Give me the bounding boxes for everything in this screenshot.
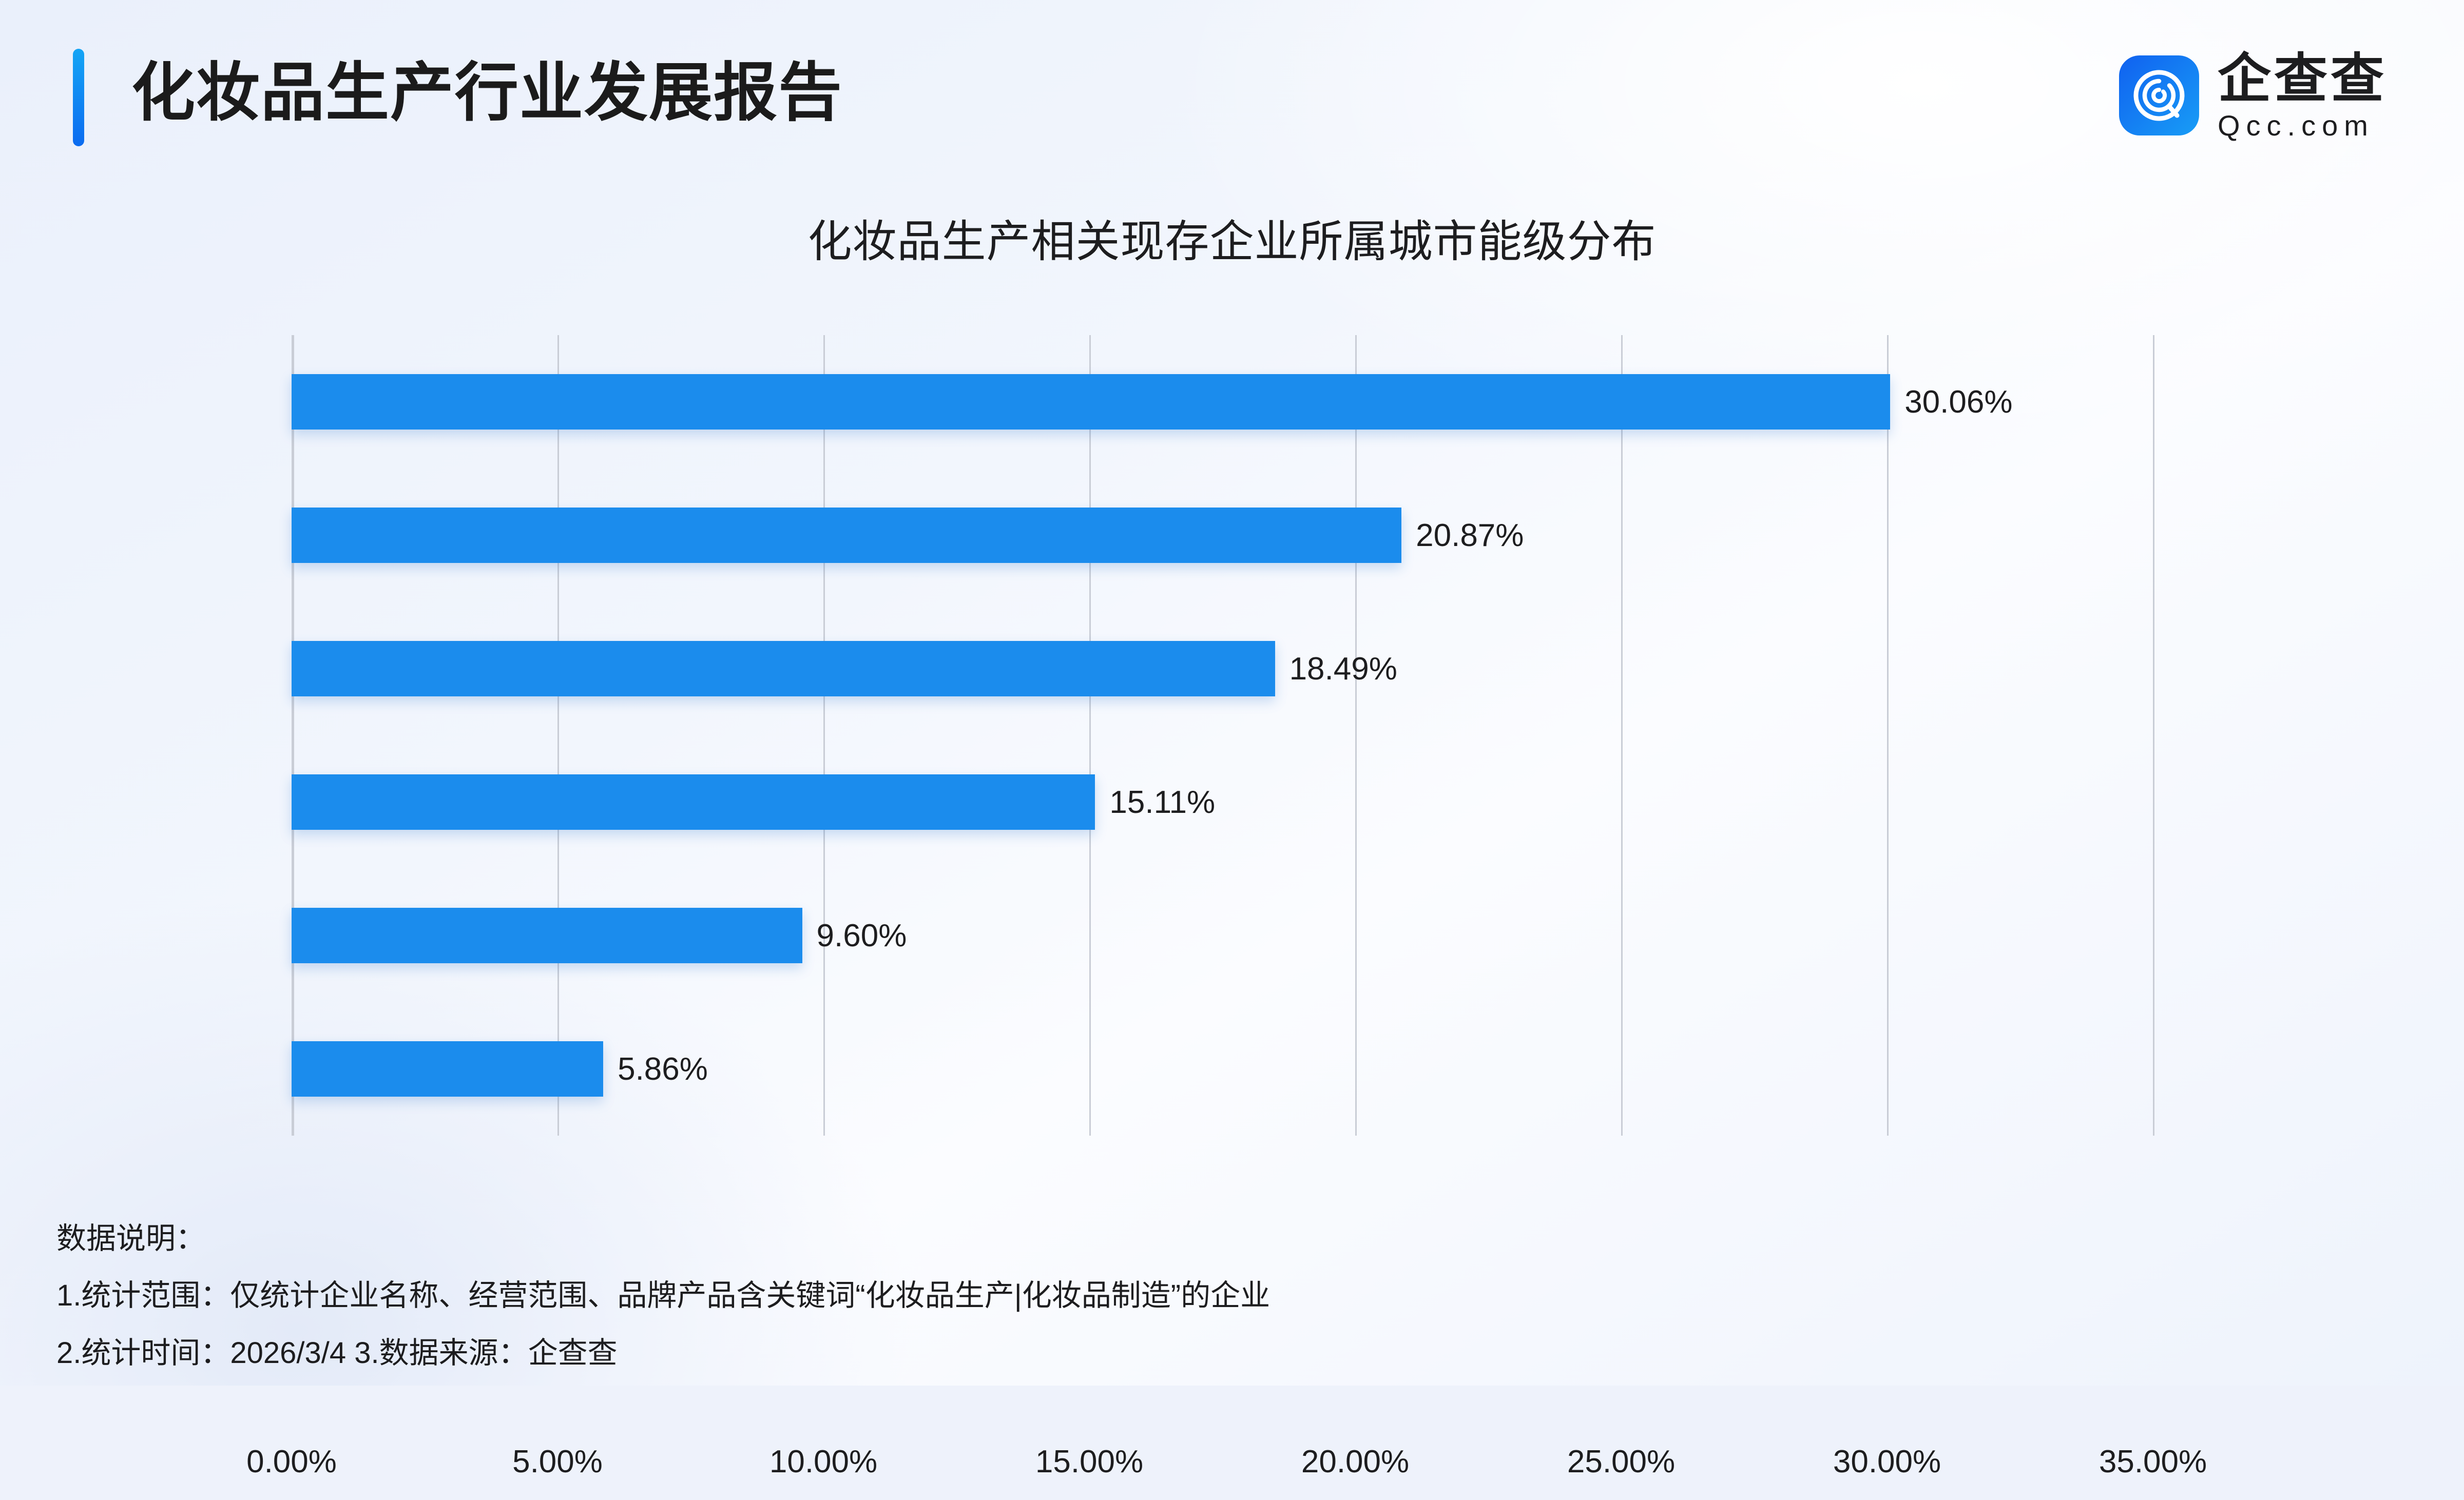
page-title: 化妆品生产行业发展报告 bbox=[131, 47, 843, 140]
bar-value-label: 18.49% bbox=[1289, 651, 1397, 687]
bar-with-value: 5.86% bbox=[292, 1041, 708, 1097]
bar-with-value: 9.60% bbox=[292, 908, 907, 963]
bar[interactable] bbox=[292, 374, 1890, 430]
bar-with-value: 18.49% bbox=[292, 641, 1397, 696]
bar-value-label: 15.11% bbox=[1109, 784, 1215, 821]
plot-area: 一线城市30.06%三线城市20.87%二线城市18.49%新一线城市15.11… bbox=[292, 335, 2153, 1136]
report-header: 化妆品生产行业发展报告 企查查 Qcc.com bbox=[0, 0, 2464, 190]
bar-row: 四线城市9.60% bbox=[292, 869, 2153, 1002]
x-axis-tick-labels: 0.00%5.00%10.00%15.00%20.00%25.00%30.00%… bbox=[292, 1444, 2153, 1500]
x-tick-label: 0.00% bbox=[246, 1444, 337, 1480]
bar-with-value: 20.87% bbox=[292, 508, 1524, 563]
report-page: 化妆品生产行业发展报告 企查查 Qcc.com 化妆品生产相关现存企业所属城市能… bbox=[0, 0, 2464, 1386]
title-accent-bar bbox=[73, 49, 84, 146]
x-tick-label: 35.00% bbox=[2099, 1444, 2207, 1480]
bar-row: 五线城市5.86% bbox=[292, 1002, 2153, 1136]
bar-with-value: 30.06% bbox=[292, 374, 2012, 430]
footnote-source: 2.统计时间：2026/3/4 3.数据来源：企查查 bbox=[56, 1324, 2366, 1381]
x-tick-label: 10.00% bbox=[769, 1444, 877, 1480]
bar-value-label: 30.06% bbox=[1904, 384, 2012, 420]
bar-row: 新一线城市15.11% bbox=[292, 735, 2153, 869]
footnote-heading: 数据说明： bbox=[56, 1210, 2366, 1267]
bar[interactable] bbox=[292, 641, 1275, 696]
bar[interactable] bbox=[292, 908, 802, 963]
logo-wordmark: 企查查 Qcc.com bbox=[2218, 49, 2387, 142]
bar-row: 三线城市20.87% bbox=[292, 469, 2153, 602]
chart-subtitle: 化妆品生产相关现存企业所属城市能级分布 bbox=[0, 205, 2464, 269]
bar-value-label: 20.87% bbox=[1416, 517, 1524, 554]
bar[interactable] bbox=[292, 508, 1401, 563]
x-tick-label: 15.00% bbox=[1035, 1444, 1143, 1480]
footnote-scope: 1.统计范围：仅统计企业名称、经营范围、品牌产品含关键词“化妆品生产|化妆品制造… bbox=[56, 1267, 2366, 1324]
x-tick-label: 20.00% bbox=[1301, 1444, 1409, 1480]
logo-brand-cn: 企查查 bbox=[2218, 49, 2387, 109]
bar-row: 二线城市18.49% bbox=[292, 602, 2153, 735]
gridline bbox=[2153, 335, 2154, 1136]
x-tick-label: 5.00% bbox=[512, 1444, 603, 1480]
bar-row: 一线城市30.06% bbox=[292, 335, 2153, 469]
bar[interactable] bbox=[292, 774, 1095, 830]
bar[interactable] bbox=[292, 1041, 603, 1097]
bar-value-label: 9.60% bbox=[817, 918, 907, 954]
qcc-spiral-q-icon bbox=[2119, 55, 2199, 135]
footnotes: 数据说明： 1.统计范围：仅统计企业名称、经营范围、品牌产品含关键词“化妆品生产… bbox=[56, 1210, 2366, 1381]
qcc-logo: 企查查 Qcc.com bbox=[2119, 49, 2387, 142]
bar-chart: 一线城市30.06%三线城市20.87%二线城市18.49%新一线城市15.11… bbox=[0, 308, 2464, 1150]
x-tick-label: 30.00% bbox=[1833, 1444, 1941, 1480]
logo-brand-en: Qcc.com bbox=[2218, 110, 2387, 142]
bar-value-label: 5.86% bbox=[618, 1051, 708, 1087]
x-tick-label: 25.00% bbox=[1567, 1444, 1675, 1480]
bar-with-value: 15.11% bbox=[292, 774, 1215, 830]
